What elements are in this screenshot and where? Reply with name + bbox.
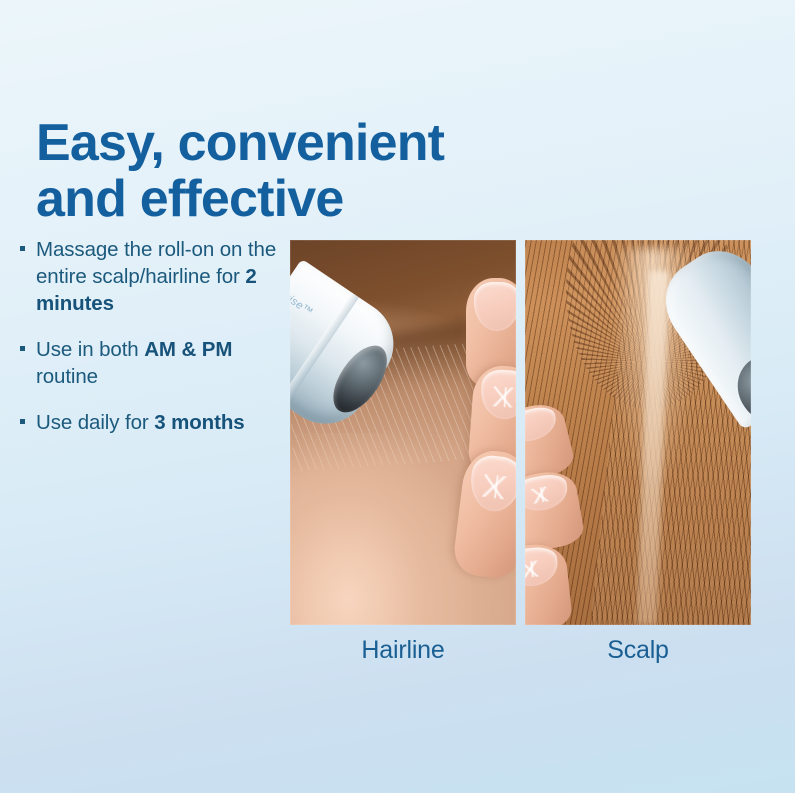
benefit-item-duration: Use daily for 3 months: [18, 409, 286, 436]
benefit-text: routine: [36, 365, 98, 388]
finger: [525, 468, 585, 556]
bullet-square-icon: [20, 419, 25, 424]
benefit-text: Use in both: [36, 338, 144, 361]
fingernail: [525, 546, 560, 589]
benefit-text: Massage the roll-on on the entire scalp/…: [36, 238, 276, 288]
hand: [403, 255, 516, 625]
finger: [525, 541, 574, 625]
benefit-item-massage: Massage the roll-on on the entire scalp/…: [18, 236, 286, 317]
photo-scalp: [525, 240, 751, 625]
benefit-emphasis: AM & PM: [144, 338, 232, 361]
benefit-item-am-pm: Use in both AM & PM routine: [18, 336, 286, 390]
finger: [451, 448, 516, 581]
page-title: Easy, convenient and effective: [36, 115, 576, 227]
benefit-item-label: Massage the roll-on on the entire scalp/…: [36, 238, 276, 315]
promo-card: Easy, convenient and effective Massage t…: [0, 0, 795, 793]
photo-hairline-content: rise™: [290, 240, 516, 625]
benefit-emphasis: 3 months: [154, 411, 244, 434]
fingernail: [474, 282, 516, 331]
photo-scalp-content: [525, 240, 751, 625]
fingernail: [479, 369, 516, 421]
fingernail: [467, 454, 516, 515]
fingernail: [525, 472, 570, 514]
bullet-square-icon: [20, 346, 25, 351]
benefit-text: Use daily for: [36, 411, 154, 434]
hand: [525, 402, 620, 625]
nail-art-leaf-icon: [527, 486, 557, 505]
nail-art-leaf-icon: [525, 560, 548, 579]
photo-hairline: rise™: [290, 240, 516, 625]
benefit-list: Massage the roll-on on the entire scalp/…: [18, 236, 286, 436]
fingernail: [525, 404, 560, 447]
benefit-item-label: Use in both AM & PM routine: [36, 338, 232, 388]
bullet-square-icon: [20, 246, 25, 251]
caption-scalp: Scalp: [525, 636, 751, 665]
benefit-item-label: Use daily for 3 months: [36, 411, 245, 434]
nail-art-leaf-icon: [492, 387, 516, 409]
caption-hairline: Hairline: [290, 636, 516, 665]
nail-art-leaf-icon: [482, 474, 511, 500]
